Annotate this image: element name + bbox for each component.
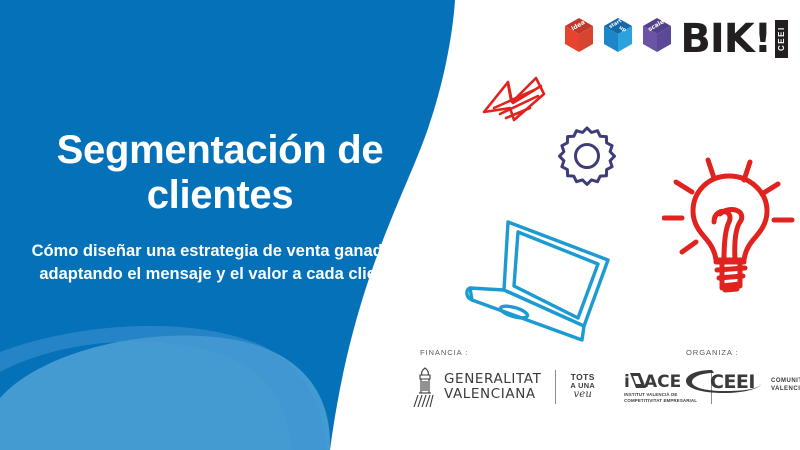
bik-wordmark: BIK! CEEI: [680, 20, 788, 58]
cube-startup-icon: start up: [600, 16, 636, 56]
page-subtitle: Cómo diseñar una estrategia de venta gan…: [0, 240, 440, 287]
ceei-vertical-tag: CEEI: [775, 20, 788, 58]
ivace-wordmark-icon: i ACE: [624, 371, 686, 391]
financia-logo-group: GENERALITAT VALENCIANA TOTS A UNA veu i …: [412, 366, 719, 408]
paper-plane-icon: [478, 68, 558, 130]
cube-idea-icon: idea: [561, 16, 597, 56]
ceei-subtitle: COMUNITAT VALENCIANA: [771, 377, 800, 393]
tots-a-una-veu-logo[interactable]: TOTS A UNA veu: [570, 373, 595, 401]
page-title: Segmentación de clientes: [0, 128, 440, 218]
ceei-swoosh-icon: CEEI: [682, 366, 768, 400]
tots-line-3: veu: [570, 390, 595, 401]
title-block: Segmentación de clientes Cómo diseñar un…: [0, 128, 440, 286]
laptop-icon: [458, 214, 634, 354]
generalitat-line-2: VALENCIANA: [444, 387, 541, 402]
svg-text:CEEI: CEEI: [710, 371, 755, 393]
cube-row: idea start up scale: [561, 16, 675, 56]
generalitat-line-1: GENERALITAT: [444, 372, 541, 387]
subtitle-line-2: adaptando el mensaje y el valor a cada c…: [39, 265, 400, 283]
bik-text: BIK!: [680, 20, 771, 58]
presentation-slide: Segmentación de clientes Cómo diseñar un…: [0, 0, 800, 450]
generalitat-valenciana-logo[interactable]: GENERALITAT VALENCIANA: [412, 366, 541, 408]
ceei-sub-line-1: COMUNITAT: [771, 377, 800, 385]
svg-text:ACE: ACE: [644, 372, 681, 391]
brand-logo[interactable]: idea start up scale BIK! CEEI: [561, 16, 788, 58]
organiza-logo-group: CEEI COMUNITAT VALENCIANA: [682, 366, 800, 400]
cube-scale-icon: scale: [639, 16, 675, 56]
subtitle-line-1: Cómo diseñar una estrategia de venta gan…: [32, 242, 409, 260]
financia-label: FINANCIA :: [420, 348, 468, 357]
gear-icon: [556, 124, 618, 186]
footer: FINANCIA : ORGANIZA : GENERALITAT: [400, 344, 800, 444]
generalitat-crest-icon: [412, 366, 438, 408]
generalitat-text: GENERALITAT VALENCIANA: [444, 372, 541, 402]
lightbulb-icon: [662, 148, 796, 300]
svg-text:i: i: [624, 372, 630, 391]
ceei-sub-line-2: VALENCIANA: [771, 385, 800, 393]
organiza-label: ORGANIZA :: [686, 348, 738, 357]
divider-1: [555, 370, 556, 404]
ceei-logo[interactable]: CEEI COMUNITAT VALENCIANA: [682, 366, 800, 400]
